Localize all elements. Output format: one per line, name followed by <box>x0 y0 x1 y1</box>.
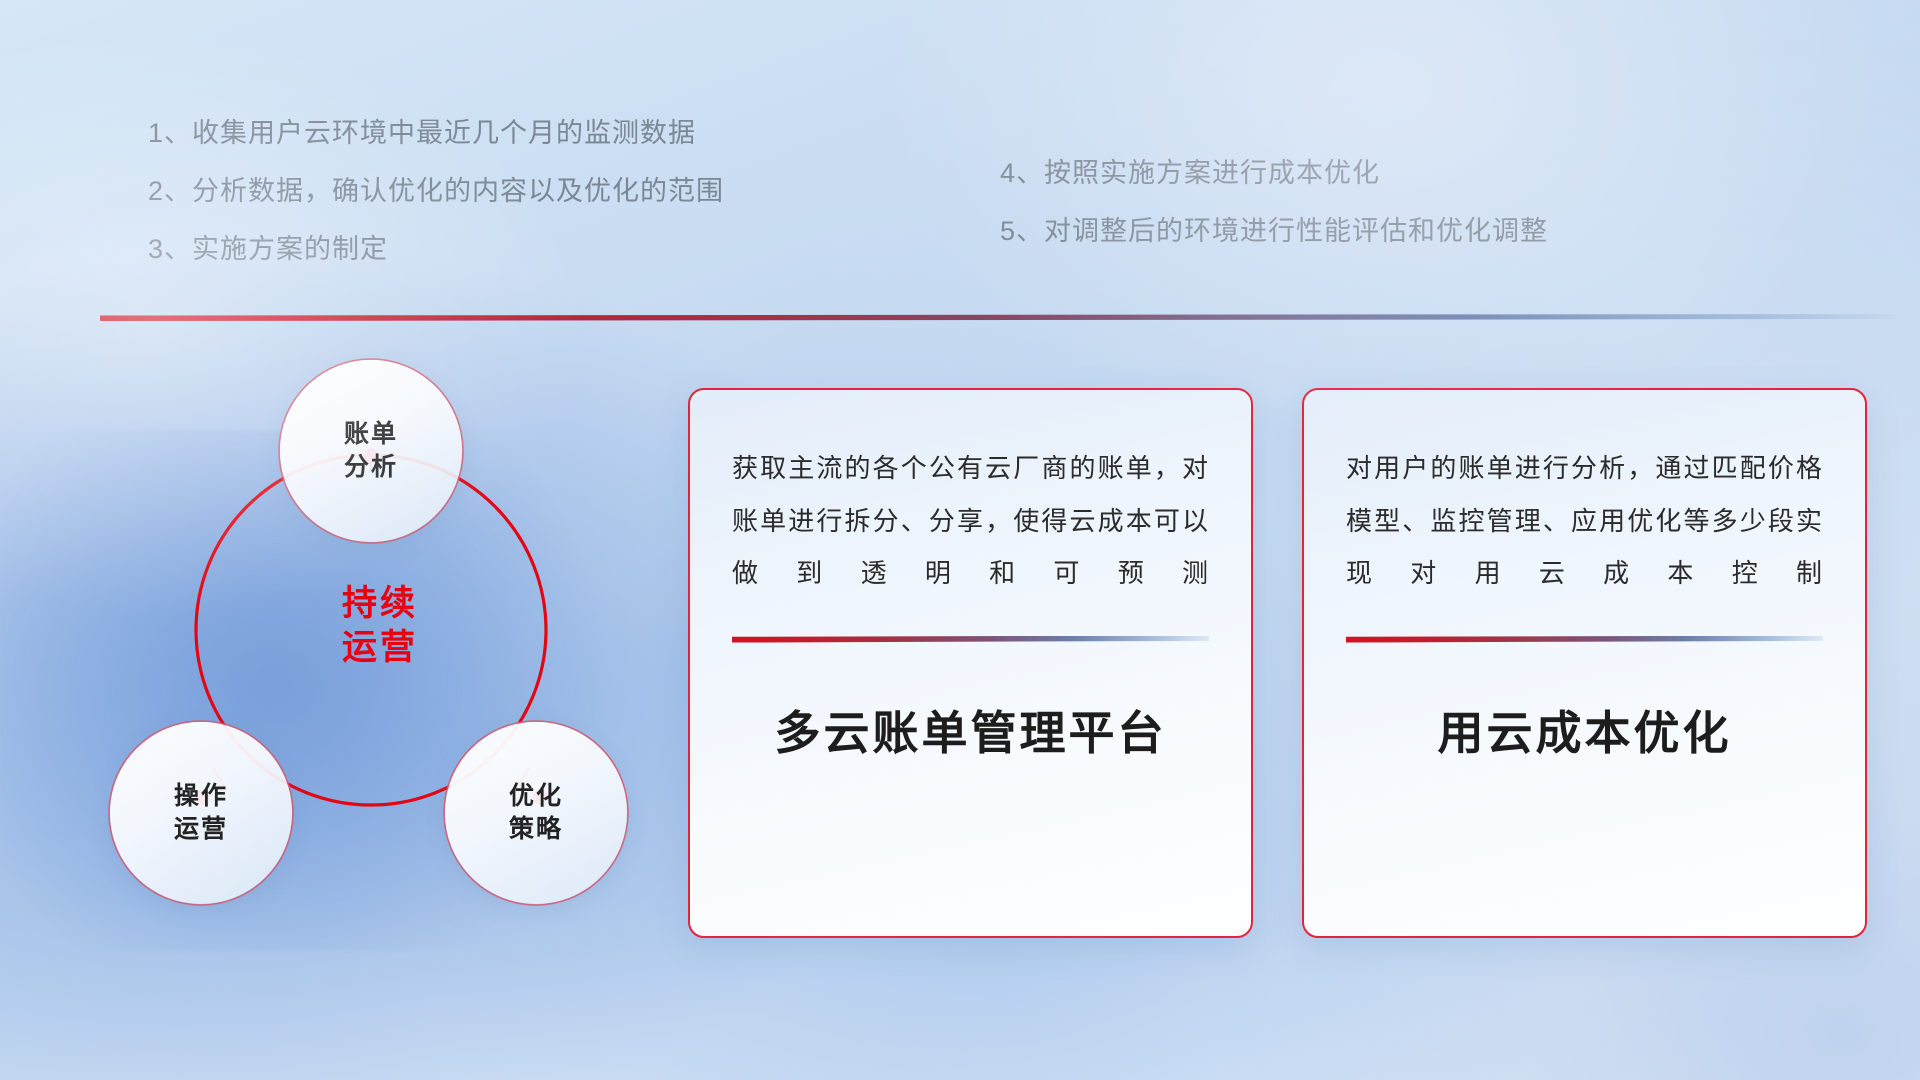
bubble-line-1: 账单 <box>344 420 398 448</box>
card-body-text: 获取主流的各个公有云厂商的账单，对账单进行拆分、分享，使得云成本可以做到透明和可… <box>732 442 1209 600</box>
card-multi-cloud-bill-platform[interactable]: 获取主流的各个公有云厂商的账单，对账单进行拆分、分享，使得云成本可以做到透明和可… <box>688 388 1253 938</box>
bubble-label-operation-ops: 操作 运营 <box>174 780 228 846</box>
card-title: 用云成本优化 <box>1346 697 1823 763</box>
process-steps: 1、收集用户云环境中最近几个月的监测数据 2、分析数据，确认优化的内容以及优化的… <box>0 0 1920 300</box>
center-label-line-1: 持续 <box>342 584 418 623</box>
card-divider-rule <box>732 636 1209 643</box>
step-item-2: 2、分析数据，确认优化的内容以及优化的范围 <box>148 178 724 205</box>
bubble-line-1: 操作 <box>174 782 228 810</box>
bubble-operation-ops[interactable]: 操作 运营 <box>110 722 292 904</box>
card-cloud-cost-optimization[interactable]: 对用户的账单进行分析，通过匹配价格模型、监控管理、应用优化等多少段实现对用云成本… <box>1302 388 1867 938</box>
card-divider-rule <box>1346 636 1823 643</box>
steps-left-column: 1、收集用户云环境中最近几个月的监测数据 2、分析数据，确认优化的内容以及优化的… <box>148 120 724 294</box>
card-title: 多云账单管理平台 <box>732 697 1209 763</box>
card-body-text: 对用户的账单进行分析，通过匹配价格模型、监控管理、应用优化等多少段实现对用云成本… <box>1346 442 1823 600</box>
bubble-line-2: 策略 <box>509 815 563 843</box>
bubble-bill-analysis[interactable]: 账单 分析 <box>280 360 462 542</box>
bubble-line-2: 分析 <box>344 453 398 481</box>
bubble-line-2: 运营 <box>174 815 228 843</box>
continuous-operation-diagram: 账单 分析 操作 运营 优化 策略 持续 运营 <box>95 350 655 950</box>
slide-canvas: 1、收集用户云环境中最近几个月的监测数据 2、分析数据，确认优化的内容以及优化的… <box>0 0 1920 1080</box>
bubble-label-optimization-strategy: 优化 策略 <box>509 780 563 846</box>
bubble-label-bill-analysis: 账单 分析 <box>344 418 398 484</box>
step-item-5: 5、对调整后的环境进行性能评估和优化调整 <box>1000 218 1548 245</box>
header-divider-rule <box>100 314 1895 321</box>
step-item-3: 3、实施方案的制定 <box>148 236 724 263</box>
center-label-line-2: 运营 <box>342 628 418 667</box>
bubble-line-1: 优化 <box>509 782 563 810</box>
bubble-optimization-strategy[interactable]: 优化 策略 <box>445 722 627 904</box>
step-item-4: 4、按照实施方案进行成本优化 <box>1000 160 1548 187</box>
steps-right-column: 4、按照实施方案进行成本优化 5、对调整后的环境进行性能评估和优化调整 <box>1000 160 1548 276</box>
diagram-center-label: 持续 运营 <box>285 582 475 670</box>
step-item-1: 1、收集用户云环境中最近几个月的监测数据 <box>148 120 724 147</box>
